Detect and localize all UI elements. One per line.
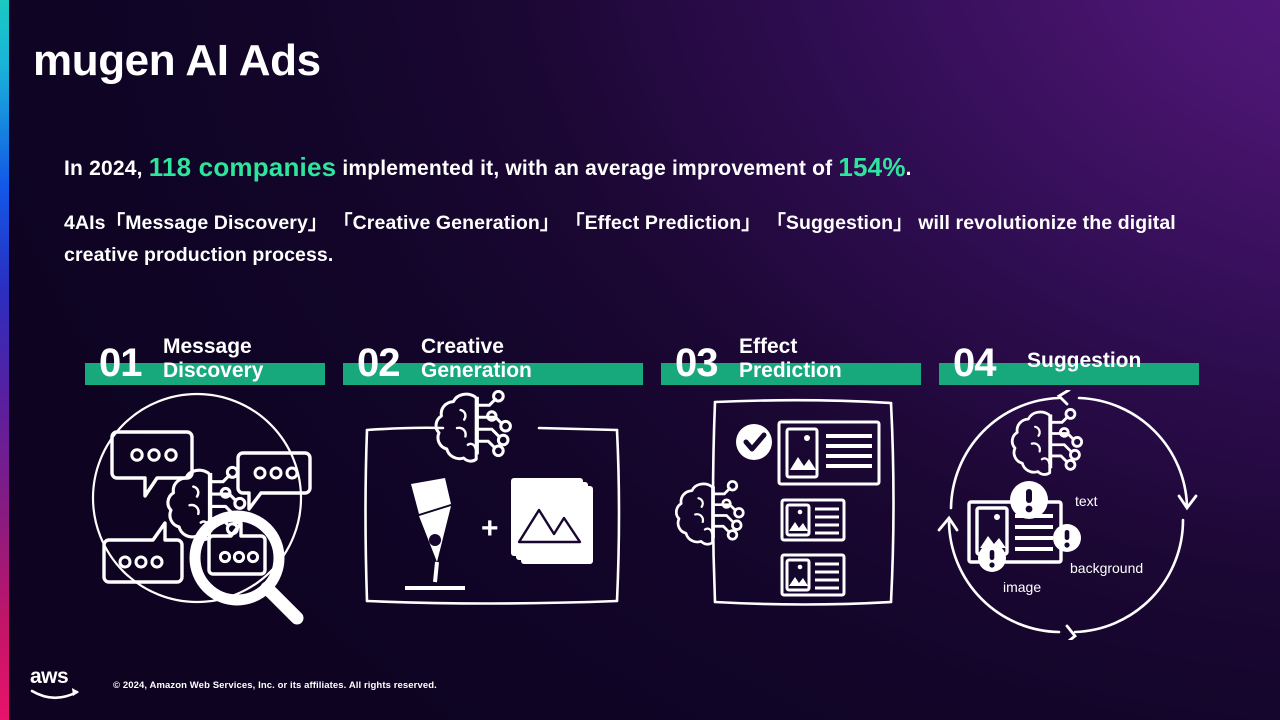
pen-nib-icon (405, 478, 465, 588)
step-number-01: 01 (99, 343, 142, 383)
step-panel-02: 02 Creative Generation (343, 310, 643, 385)
brain-ai-icon (436, 391, 510, 461)
step-title-04: Suggestion (1027, 349, 1141, 373)
brain-ai-icon (676, 481, 743, 544)
step-header-02: 02 Creative Generation (343, 310, 643, 385)
step-number-03: 03 (675, 343, 718, 383)
alert-badge-icon (978, 544, 1006, 572)
slide-canvas: mugen AI Ads In 2024, 118 companies impl… (0, 0, 1280, 720)
step-header-03: 03 Effect Prediction (661, 310, 921, 385)
plus-sign: + (481, 512, 499, 545)
lead-highlight-percent: 154% (838, 152, 905, 182)
label-image: image (1003, 579, 1041, 595)
step-title-01: Message Discovery (163, 335, 263, 383)
label-background: background (1070, 560, 1143, 576)
creative-generation-illustration: + (353, 390, 633, 635)
step-title-03: Effect Prediction (739, 335, 842, 383)
result-card (779, 422, 879, 484)
copyright-text: © 2024, Amazon Web Services, Inc. or its… (113, 680, 437, 691)
svg-text:aws: aws (30, 666, 68, 688)
lead-text-3: . (906, 157, 912, 180)
alert-badge-icon (1010, 481, 1048, 519)
aws-logo: aws (30, 666, 96, 705)
suggestion-illustration: text background image (933, 390, 1203, 645)
step-header-01: 01 Message Discovery (85, 310, 325, 385)
gradient-edge-bar (0, 0, 9, 720)
step-number-04: 04 (953, 343, 996, 383)
alert-badge-icon (1053, 524, 1081, 552)
step-panel-04: 04 Suggestion (939, 310, 1199, 385)
lead-text-1: In 2024, (64, 157, 149, 180)
lead-description-line: 4AIs「Message Discovery」 「Creative Genera… (64, 208, 1209, 271)
step-header-04: 04 Suggestion (939, 310, 1199, 385)
check-badge-icon (736, 424, 772, 460)
lead-highlight-companies: 118 companies (149, 152, 337, 182)
step-panel-03: 03 Effect Prediction (661, 310, 921, 385)
effect-prediction-illustration (667, 390, 917, 635)
page-title: mugen AI Ads (33, 36, 321, 86)
step-panel-01: 01 Message Discovery (85, 310, 325, 385)
step-number-02: 02 (357, 343, 400, 383)
result-card (782, 555, 844, 595)
label-text: text (1075, 493, 1098, 509)
lead-text-2: implemented it, with an average improvem… (336, 157, 838, 180)
step-title-02: Creative Generation (421, 335, 532, 383)
image-stack-icon (511, 478, 593, 564)
result-card (782, 500, 844, 540)
message-discovery-illustration (85, 390, 325, 635)
lead-statistic-line: In 2024, 118 companies implemented it, w… (64, 152, 912, 183)
brain-ai-icon (1012, 409, 1081, 474)
search-bubble-icon (195, 516, 297, 618)
